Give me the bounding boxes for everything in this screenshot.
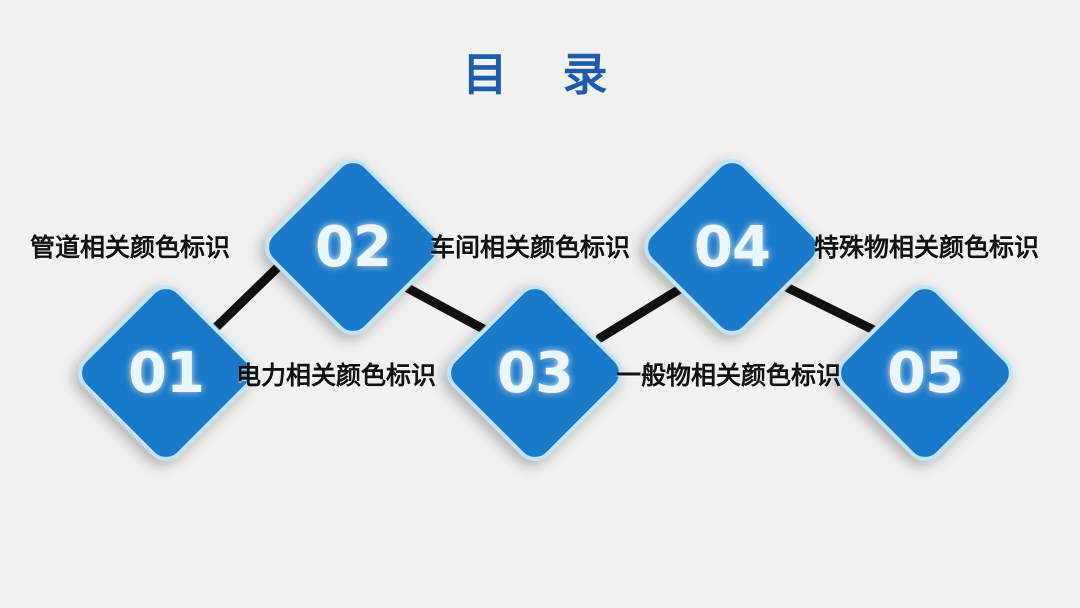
node-number-02: 02 [285, 179, 421, 315]
node-number-05: 05 [857, 305, 993, 441]
caption-01[interactable]: 管道相关颜色标识 [30, 228, 230, 264]
node-number-03: 03 [467, 305, 603, 441]
node-number-04: 04 [664, 179, 800, 315]
caption-02[interactable]: 车间相关颜色标识 [430, 228, 630, 264]
node-04[interactable]: 04 [664, 179, 800, 315]
page-title: 目 录 [0, 38, 1080, 103]
caption-03[interactable]: 电力相关颜色标识 [236, 356, 436, 392]
node-02[interactable]: 02 [285, 179, 421, 315]
node-03[interactable]: 03 [467, 305, 603, 441]
node-number-01: 01 [98, 305, 234, 441]
node-01[interactable]: 01 [98, 305, 234, 441]
node-05[interactable]: 05 [857, 305, 993, 441]
caption-05[interactable]: 一般物相关颜色标识 [616, 356, 841, 392]
slide-canvas: 目 录 01 管道相关颜色标识 02 车间相关颜色标识 03 电力相关颜色标识 … [0, 0, 1080, 608]
caption-04[interactable]: 特殊物相关颜色标识 [814, 228, 1039, 264]
